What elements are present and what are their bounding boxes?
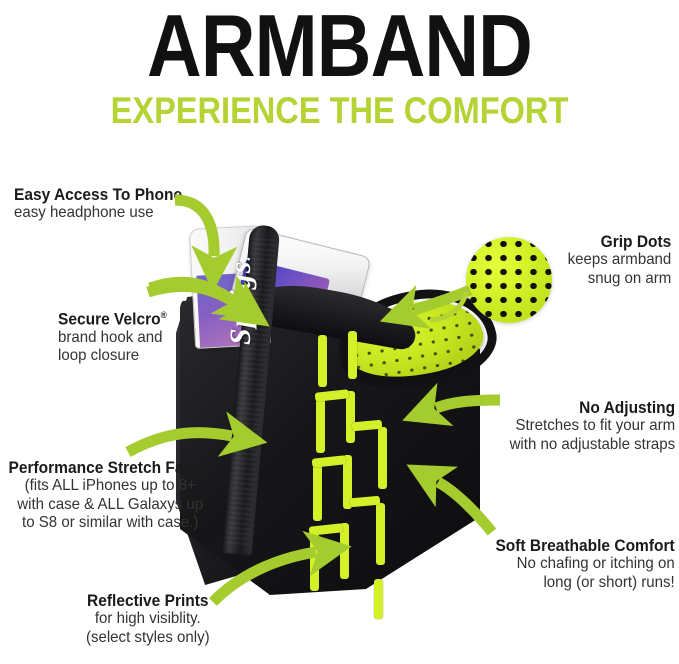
registered-trademark-icon: ® <box>161 310 167 320</box>
infographic-page: ARMBAND EXPERIENCE THE COMFORT <box>0 0 679 664</box>
callout-body: Stretches to fit your arm with no adjust… <box>509 417 675 453</box>
callout-body-line: with no adjustable straps <box>509 436 675 454</box>
callout-body-line: with case & ALL Galaxys up <box>8 496 211 514</box>
page-title: ARMBAND <box>48 4 632 88</box>
callout-title: Secure Velcro® <box>58 310 167 329</box>
callout-title: Grip Dots <box>567 233 671 251</box>
callout-body: No chafing or itching on long (or short)… <box>496 555 675 591</box>
callout-body-line: (select styles only) <box>86 629 210 647</box>
brand-logo: Sprigs. <box>224 256 258 345</box>
product-photo: Sprigs. <box>170 225 500 605</box>
brand-logo-text: Sprigs <box>224 261 257 345</box>
callout-stretch-fabric: Performance Stretch Fabric (fits ALL iPh… <box>2 459 218 532</box>
callout-easy-access: Easy Access To Phone easy headphone use <box>14 186 193 223</box>
callout-soft-breathable-comfort: Soft Breathable Comfort No chafing or it… <box>484 537 675 592</box>
callout-body-line: Stretches to fit your arm <box>509 417 675 435</box>
callout-title: Easy Access To Phone <box>14 186 182 204</box>
callout-body-line: snug on arm <box>567 270 671 288</box>
callout-body: (fits ALL iPhones up to 8+ with case & A… <box>8 477 211 532</box>
callout-body-line: (fits ALL iPhones up to 8+ <box>8 477 211 495</box>
callout-body-line: No chafing or itching on <box>496 555 675 573</box>
callout-title: Soft Breathable Comfort <box>496 537 675 555</box>
callout-body-line: to S8 or similar with case.) <box>8 514 211 532</box>
callout-secure-velcro: Secure Velcro® brand hook and loop closu… <box>58 310 174 365</box>
brand-logo-dot: . <box>237 256 254 261</box>
page-subtitle: EXPERIENCE THE COMFORT <box>41 92 639 129</box>
callout-title: Reflective Prints <box>86 592 210 610</box>
callout-body-line: long (or short) runs! <box>496 574 675 592</box>
callout-body-line: easy headphone use <box>14 204 182 222</box>
callout-body-line: for high visiblity. <box>86 610 210 628</box>
callout-title: Performance Stretch Fabric <box>8 459 211 477</box>
callout-title: No Adjusting <box>509 399 675 417</box>
header: ARMBAND EXPERIENCE THE COMFORT <box>0 0 679 129</box>
callout-body-line: brand hook and <box>58 329 167 347</box>
callout-reflective-prints: Reflective Prints for high visiblity. (s… <box>82 592 214 647</box>
callout-grip-dots: Grip Dots keeps armband snug on arm <box>561 233 671 288</box>
grip-dots-detail-circle <box>466 237 552 323</box>
callout-body: keeps armband snug on arm <box>567 251 671 287</box>
callout-body-line: keeps armband <box>567 251 671 269</box>
callout-body: easy headphone use <box>14 204 182 222</box>
callout-title-text: Secure Velcro <box>58 311 161 329</box>
callout-body: brand hook and loop closure <box>58 329 167 365</box>
callout-body-line: loop closure <box>58 347 167 365</box>
callout-body: for high visiblity. (select styles only) <box>86 610 210 646</box>
callout-no-adjusting: No Adjusting Stretches to fit your arm w… <box>499 399 675 454</box>
